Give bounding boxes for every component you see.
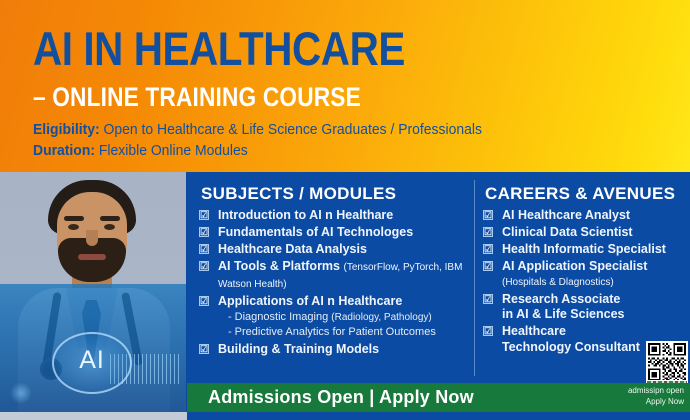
column-divider	[474, 180, 475, 376]
list-item: ☑AI Application Specialist (Hospitals & …	[483, 259, 683, 290]
list-item: ☑AI Tools & Platforms (TensorFlow, PyTor…	[199, 259, 473, 292]
ai-hologram-overlay: AI	[0, 284, 186, 420]
duration-label: Duration:	[33, 142, 95, 159]
list-item-label: Introduction to AI n Healthare	[218, 208, 393, 222]
list-item-label: Fundamentals of AI Technologes	[218, 225, 413, 239]
promo-banner: AI IN HEALTHCARE – ONLINE TRAINING COURS…	[0, 0, 690, 420]
careers-heading: CAREERS & AVENUES	[485, 184, 675, 204]
dash-bullet: -	[228, 311, 232, 323]
sub-items-list: -Diagnostic Imaging (Radiology, Patholog…	[218, 310, 473, 340]
hologram-ai-label: AI	[52, 346, 132, 375]
sub-list-item-label: Predictive Analytics for Patient Outcome…	[235, 326, 436, 338]
checkbox-icon: ☑	[199, 227, 209, 237]
list-item-label: AI Application Specialist	[502, 259, 647, 273]
duration-value: Flexible Online Modules	[95, 142, 248, 159]
cta-side-line-2: Apply Now	[592, 396, 684, 407]
bottom-blue-strip	[187, 412, 690, 420]
page-title: AI IN HEALTHCARE	[33, 24, 405, 74]
checkbox-icon: ☑	[199, 261, 209, 271]
list-item-label: Clinical Data Scientist	[502, 225, 633, 239]
list-item: ☑Health Informatic Specialist	[483, 242, 683, 258]
list-item: ☑Fundamentals of AI Technologes	[199, 225, 473, 241]
qr-code-svg	[648, 343, 686, 381]
list-item-label: Healthcare Data Analysis	[218, 242, 367, 256]
eligibility-label: Eligibility:	[33, 121, 100, 138]
admissions-cta-side-note: admissipn open Apply Now	[592, 385, 684, 407]
list-item-label: Building & Training Models	[218, 342, 379, 356]
sub-list-item: -Predictive Analytics for Patient Outcom…	[218, 325, 473, 340]
eye-left	[68, 224, 79, 230]
eye-right	[104, 224, 115, 230]
list-item: ☑Healthcare Data Analysis	[199, 242, 473, 258]
dash-bullet: -	[228, 326, 232, 338]
hologram-glow-dot	[10, 382, 32, 404]
checkbox-icon: ☑	[483, 294, 493, 304]
list-item-label: Health Informatic Specialist	[502, 242, 666, 256]
list-item-note: in AI & Life Sciences	[502, 307, 683, 323]
checkbox-icon: ☑	[483, 210, 493, 220]
checkbox-icon: ☑	[483, 244, 493, 254]
doctor-photo: AI	[0, 172, 186, 420]
page-subtitle: – ONLINE TRAINING COURSE	[33, 82, 361, 112]
eyebrow-right	[100, 216, 120, 221]
list-item: ☑AI Healthcare Analyst	[483, 208, 683, 224]
subjects-heading: SUBJECTS / MODULES	[201, 184, 396, 204]
sub-list-item: -Diagnostic Imaging (Radiology, Patholog…	[218, 310, 473, 325]
checkbox-icon: ☑	[199, 344, 209, 354]
sub-list-item-label: Diagnostic Imaging	[235, 311, 332, 323]
checkbox-icon: ☑	[199, 210, 209, 220]
list-item-label: AI Tools & Platforms	[218, 259, 343, 273]
qr-code-icon[interactable]	[646, 341, 688, 383]
list-item: ☑Introduction to AI n Healthare	[199, 208, 473, 224]
checkbox-icon: ☑	[483, 326, 493, 336]
checkbox-icon: ☑	[483, 261, 493, 271]
admissions-cta-bar[interactable]: Admissions Open | Apply Now admissipn op…	[187, 383, 690, 412]
list-item: ☑Building & Training Models	[199, 342, 473, 358]
checkbox-icon: ☑	[199, 244, 209, 254]
header-band: AI IN HEALTHCARE – ONLINE TRAINING COURS…	[0, 0, 690, 172]
nose	[86, 230, 98, 246]
careers-list: ☑AI Healthcare Analyst ☑Clinical Data Sc…	[483, 208, 683, 357]
list-item-label: Research Associate	[502, 292, 620, 306]
admissions-cta-label: Admissions Open | Apply Now	[208, 387, 474, 408]
list-item: ☑Applications of AI n Healthcare -Diagno…	[199, 294, 473, 341]
mouth	[78, 254, 106, 260]
list-item: ☑Clinical Data Scientist	[483, 225, 683, 241]
eyebrow-left	[64, 216, 84, 221]
duration-row: Duration: Flexible Online Modules	[33, 142, 248, 160]
list-item-label: AI Healthcare Analyst	[502, 208, 630, 222]
list-item-note: (Hospitals & Dlagnostics)	[502, 275, 683, 291]
eligibility-value: Open to Healthcare & Life Science Gradua…	[100, 121, 482, 138]
eligibility-row: Eligibility: Open to Healthcare & Life S…	[33, 121, 482, 139]
checkbox-icon: ☑	[199, 296, 209, 306]
bottom-left-strip	[0, 412, 187, 420]
list-item-label: Healthcare	[502, 324, 566, 338]
cta-side-line-1: admissipn open	[592, 385, 684, 396]
list-item-label: Applications of AI n Healthcare	[218, 294, 402, 308]
list-item: ☑Research Associate in AI & Life Science…	[483, 292, 683, 323]
checkbox-icon: ☑	[483, 227, 493, 237]
subjects-list: ☑Introduction to AI n Healthare ☑Fundame…	[199, 208, 473, 359]
sub-list-item-note: (Radiology, Pathology)	[331, 312, 431, 323]
